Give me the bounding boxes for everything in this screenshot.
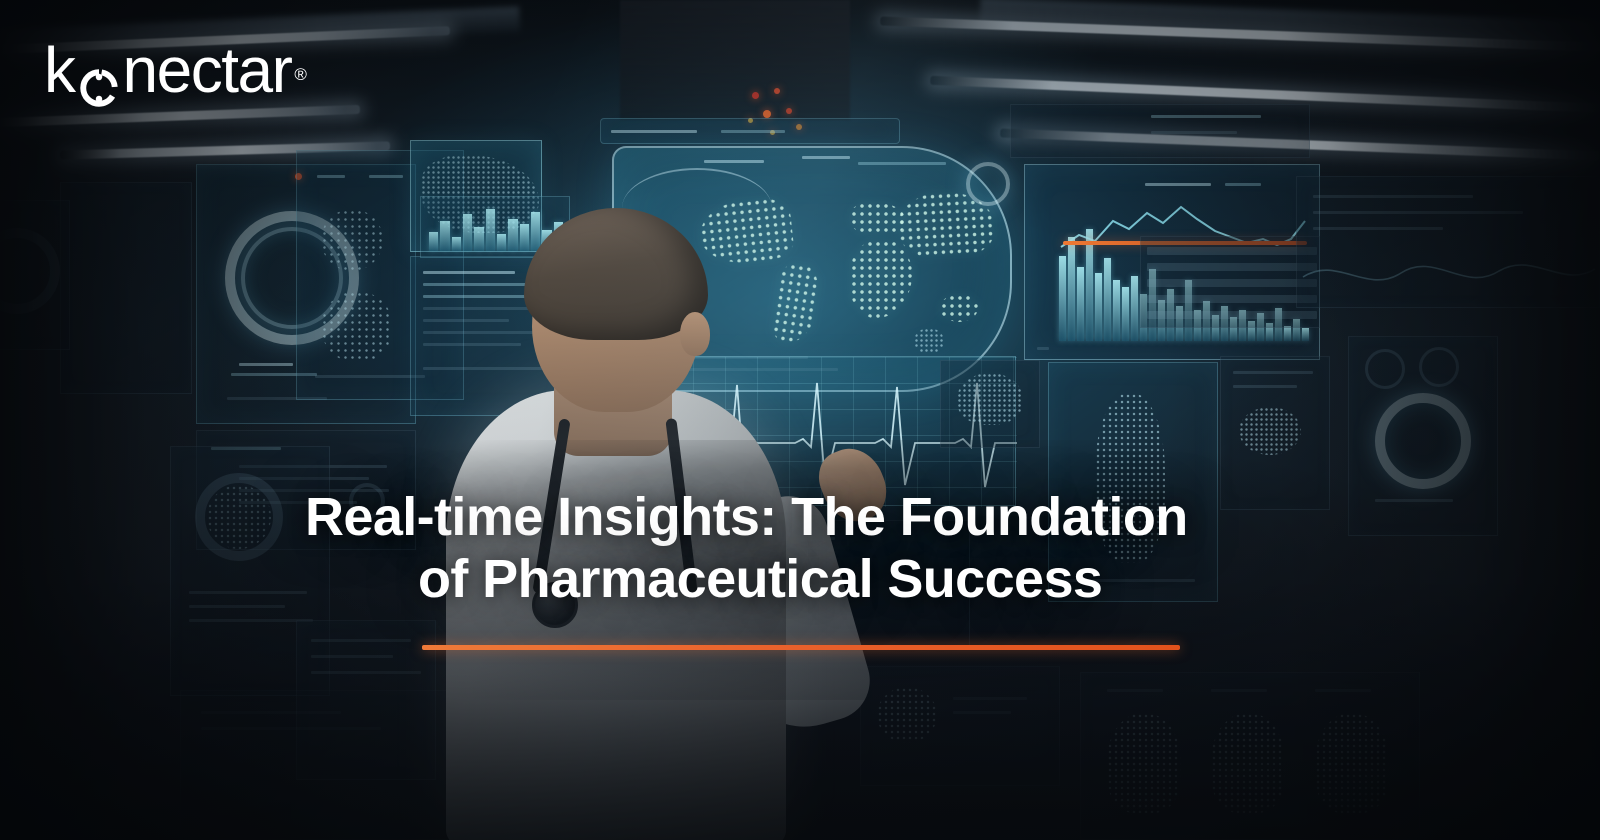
hero-banner: k nectar ® Real-time Insights: The Found… <box>0 0 1600 840</box>
molecule-cluster <box>321 291 393 363</box>
scan-thumb-right <box>1419 347 1459 387</box>
molecule-node <box>786 108 792 114</box>
lung-scan <box>877 687 937 743</box>
bottom-brain-scan-strip <box>1080 672 1420 840</box>
logo-text-post: nectar <box>123 38 292 102</box>
continent-africa <box>850 240 912 318</box>
background-scene <box>0 0 1600 840</box>
right-brain-panel <box>940 360 1040 448</box>
logo-wordmark: k nectar ® <box>44 38 305 102</box>
konectar-o-ring-icon <box>78 55 120 97</box>
title-line-1: Real-time Insights: The Foundation <box>305 487 1188 547</box>
right-edge-wave <box>1297 243 1600 303</box>
left-outer-frame-panel <box>60 182 192 394</box>
molecule-node <box>774 88 780 94</box>
hero-title-block: Real-time Insights: The Foundation of Ph… <box>305 486 1315 610</box>
panel-label <box>239 363 293 366</box>
right-header-panel <box>1010 104 1310 158</box>
brain-scan <box>957 373 1023 425</box>
doctor-lab-coat <box>446 390 786 840</box>
doctor-hair <box>524 208 708 340</box>
registered-trademark-mark: ® <box>294 66 305 83</box>
molecule-node <box>752 92 759 99</box>
molecule-node <box>763 110 771 118</box>
map-node-marker <box>966 162 1010 206</box>
molecule-cluster <box>321 209 383 271</box>
far-right-donut <box>1375 393 1471 489</box>
doctor-ear <box>680 312 710 356</box>
organ-scan <box>1239 407 1301 455</box>
title-line-2: of Pharmaceutical Success <box>305 548 1315 610</box>
konectar-logo[interactable]: k nectar ® <box>44 38 305 102</box>
right-edge-panel <box>1296 176 1600 308</box>
brain-scan-b <box>1211 713 1285 813</box>
brain-scan-c <box>1315 713 1389 813</box>
brain-scan-dots <box>207 485 271 549</box>
right-table-panel <box>1140 236 1320 328</box>
scan-thumb-left <box>1365 349 1405 389</box>
continent-australia <box>940 294 978 322</box>
title-accent-rule <box>422 645 1180 650</box>
map-hotspot <box>914 328 944 354</box>
bottom-center-panel <box>860 666 1060 786</box>
logo-text-pre: k <box>44 38 75 102</box>
far-right-ring-panel <box>1348 336 1498 536</box>
center-top-label-panel <box>600 118 900 144</box>
page-title: Real-time Insights: The Foundation of Ph… <box>305 486 1315 610</box>
brain-scan-a <box>1107 713 1181 813</box>
